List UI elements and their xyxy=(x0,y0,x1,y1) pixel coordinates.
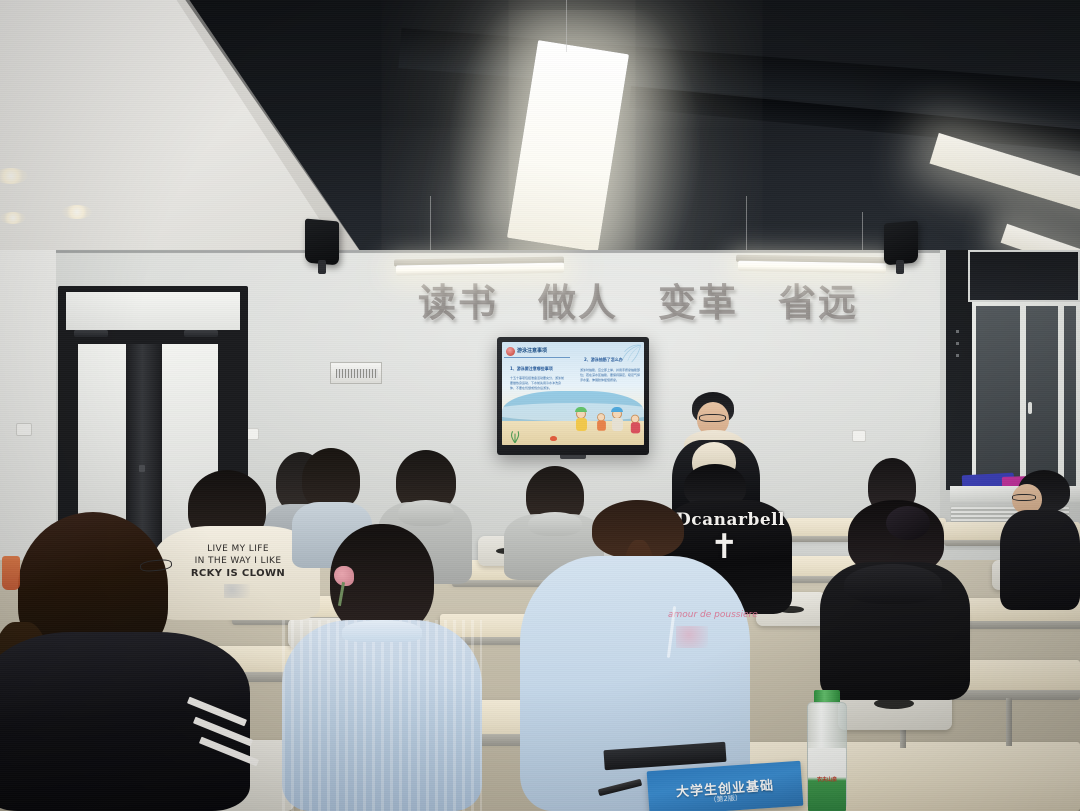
slide-cartoon-child xyxy=(631,415,640,434)
window-jamb-screws xyxy=(956,330,959,364)
hoodie-print-text: amour de poussiere xyxy=(668,610,758,620)
wall-ceiling-joint xyxy=(0,250,1080,253)
downlight-icon xyxy=(62,205,92,219)
desk-leg xyxy=(1006,698,1012,746)
slide-cartoon-child xyxy=(597,413,606,431)
slide-title-row: 游泳注意事项 xyxy=(506,347,568,356)
door-closer-right xyxy=(184,330,218,337)
cartoon-body xyxy=(631,422,640,433)
crab-icon xyxy=(550,436,557,441)
ac-grille-icon xyxy=(336,369,378,378)
slide-logo-icon xyxy=(506,347,515,356)
cartoon-body xyxy=(597,420,606,430)
shirt-collar xyxy=(342,620,422,642)
slide-section-left: 1、游泳要注意哪些事项 xyxy=(510,366,553,372)
student-bun-right xyxy=(820,500,970,700)
classroom-photo: 读书 做人 变革 省远 xyxy=(0,0,1080,811)
downlight-icon xyxy=(0,212,26,224)
door-transom-window xyxy=(66,292,240,330)
door-closer-left xyxy=(74,330,108,337)
slide-title: 游泳注意事项 xyxy=(517,347,547,354)
motto-char-3: 变革 xyxy=(658,272,738,327)
wall-motto: 读书 做人 变革 省远 xyxy=(418,272,858,327)
wall-ac-panel xyxy=(330,362,382,384)
slide-body-left: 十五十事项包括准备活动要充分，游泳前要做热身运动，下水前先用冷水冲洗身体，不要在… xyxy=(510,376,564,391)
speaker-bracket-right xyxy=(896,260,904,274)
slide-cartoon-child xyxy=(612,409,623,431)
display-stand xyxy=(560,455,586,459)
seaweed-icon xyxy=(508,429,522,443)
student-jacket xyxy=(1000,510,1080,610)
window-mullion-vertical xyxy=(1020,306,1026,486)
hoodie-hood xyxy=(398,500,454,526)
window-latch-icon[interactable] xyxy=(1028,402,1032,414)
cartoon-body xyxy=(612,418,623,431)
student-far-right xyxy=(1000,470,1080,610)
student-jacket xyxy=(0,632,250,811)
hoodie-hood xyxy=(844,564,942,604)
window-mullion-vertical xyxy=(1058,306,1064,486)
motto-char-4: 省远 xyxy=(778,272,858,327)
palm-leaf-icon xyxy=(616,344,642,366)
window-frame xyxy=(972,302,1080,490)
student-blue-striped-shirt xyxy=(282,524,482,811)
interactive-display[interactable]: 游泳注意事项 1、游泳要注意哪些事项 十五十事项包括准备活动要充分，游泳前要做热… xyxy=(497,337,649,455)
speaker-bracket-left xyxy=(318,260,326,274)
eyeglasses-icon xyxy=(699,414,726,422)
slide-body-right: 游泳时抽筋，应立即上岸，并用手按摩抽筋部位；若在深水区抽筋，要保持镇定，吸足气仰… xyxy=(580,368,640,383)
slide-title-underline xyxy=(504,357,570,358)
cartoon-hat-icon xyxy=(611,407,623,412)
water-bottle[interactable]: 农夫山泉 xyxy=(802,690,854,811)
wall-outlet[interactable] xyxy=(16,423,32,436)
cartoon-body xyxy=(576,418,587,431)
light-suspension-wire xyxy=(566,0,567,52)
bottle-brand-text: 农夫山泉 xyxy=(808,776,846,783)
bottle-label: 农夫山泉 xyxy=(808,748,846,811)
motto-char-2: 做人 xyxy=(538,272,618,327)
wall-speaker-left xyxy=(305,219,339,266)
display-screen[interactable]: 游泳注意事项 1、游泳要注意哪些事项 十五十事项包括准备活动要充分，游泳前要做热… xyxy=(502,342,644,445)
student-front-left xyxy=(0,512,250,811)
eyeglasses-icon xyxy=(1012,494,1036,501)
door-lock-icon[interactable] xyxy=(139,465,145,472)
cartoon-hat-icon xyxy=(575,407,587,412)
student-hair xyxy=(302,448,360,510)
hair-bun-icon xyxy=(886,506,930,540)
wall-speaker-right xyxy=(884,221,918,266)
slide-cartoon-child xyxy=(576,409,587,431)
light-suspension-wire xyxy=(746,196,747,258)
wall-outlet[interactable] xyxy=(852,430,866,442)
shirt-stripes xyxy=(282,620,482,811)
hoodie-print-graphic xyxy=(676,626,708,648)
motto-char-1: 读书 xyxy=(418,272,498,327)
drink-cup[interactable] xyxy=(2,556,20,590)
window-transom xyxy=(968,250,1080,302)
